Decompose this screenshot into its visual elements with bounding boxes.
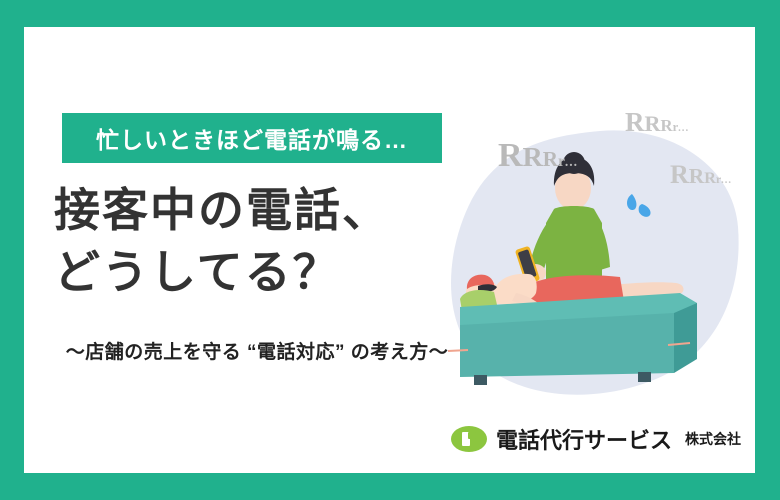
ring-sound-top-right: RRRr...	[625, 109, 689, 136]
phone-handset-logo-icon	[451, 426, 487, 452]
ring-sound-left: RRRr...	[498, 139, 578, 173]
ring-char-3: R	[660, 116, 672, 135]
poster-canvas: 忙しいときほど電話が鳴る… 接客中の電話、 どうしてる？ 〜店舗の売上を守る “…	[24, 27, 755, 473]
poster-root: 忙しいときほど電話が鳴る… 接客中の電話、 どうしてる？ 〜店舗の売上を守る “…	[0, 0, 780, 500]
table-leg-left	[474, 375, 487, 385]
headline-line-1: 接客中の電話、	[54, 179, 474, 241]
massage-table	[448, 293, 697, 385]
headline-line-2: どうしてる？	[54, 241, 474, 303]
hero-illustration: RRRr... RRRr... RRRr...	[442, 87, 755, 417]
ring-char-1: R	[498, 137, 523, 174]
ring-char-1: R	[625, 107, 645, 137]
table-side	[674, 303, 697, 373]
ring-sound-mid-right: RRRr...	[670, 162, 732, 188]
ring-char-3: R	[704, 170, 716, 187]
subtitle: 〜店舗の売上を守る “電話対応” の考え方〜	[42, 337, 472, 364]
ring-char-1: R	[670, 160, 689, 189]
ring-char-4: r	[558, 153, 565, 170]
illustration-svg	[442, 87, 755, 417]
page-title: 接客中の電話、 どうしてる？	[54, 179, 474, 303]
table-accent-left	[448, 350, 468, 351]
logo-company-suffix: 株式会社	[685, 429, 741, 449]
eyebrow-badge-label: 忙しいときほど電話が鳴る…	[96, 121, 408, 155]
ring-char-5: ...	[721, 175, 732, 186]
logo-company-name: 電話代行サービス	[496, 423, 672, 455]
eyebrow-badge: 忙しいときほど電話が鳴る…	[62, 113, 442, 163]
ring-char-3: R	[543, 147, 558, 171]
ring-char-2: R	[689, 164, 704, 188]
ring-char-5: ...	[565, 154, 578, 169]
company-logo: 電話代行サービス 株式会社	[451, 423, 741, 455]
ring-char-5: ...	[678, 122, 689, 134]
ring-char-2: R	[645, 111, 661, 136]
table-leg-right	[638, 372, 651, 382]
ring-char-2: R	[523, 142, 543, 173]
